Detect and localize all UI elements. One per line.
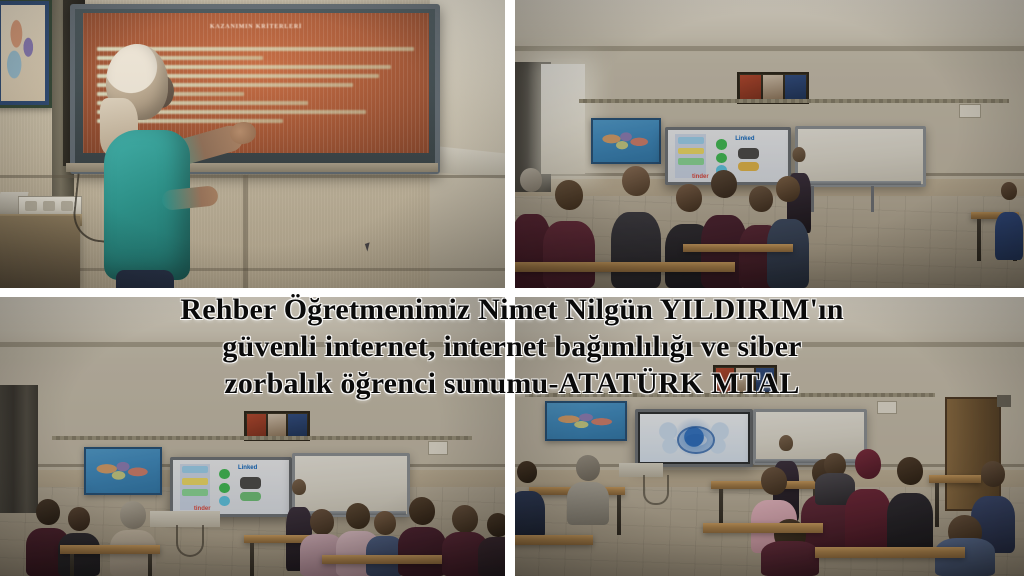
student: [398, 497, 446, 576]
student-head: [676, 184, 702, 212]
media-thumb: [240, 492, 261, 501]
student-body: [767, 219, 809, 288]
ceiling: [515, 0, 1024, 52]
ceiling: [0, 297, 505, 347]
frame-panel: [756, 368, 774, 392]
student-head: [981, 461, 1005, 487]
smart-board-screen: [640, 414, 748, 462]
wooden-desk: [322, 555, 442, 564]
whiteboard-stand: [811, 186, 814, 212]
wooden-desk: [515, 535, 593, 545]
ceiling-beam: [515, 342, 1024, 347]
student-body: [887, 493, 933, 553]
frame-portrait: [268, 414, 287, 438]
frame-panel: [785, 75, 806, 101]
wooden-desk: [683, 244, 793, 252]
student: [515, 461, 545, 539]
student-body: [478, 537, 505, 576]
wall-seam: [243, 175, 248, 288]
student-head: [374, 511, 396, 535]
photo-top-right: Linked tinder: [515, 0, 1024, 288]
student-head: [622, 166, 650, 196]
frame-portrait: [763, 75, 784, 101]
turkey-map-poster: [84, 447, 162, 495]
student: [767, 176, 809, 288]
wall-rail: [579, 99, 1009, 103]
student: [845, 449, 891, 553]
wooden-desk: [703, 523, 823, 533]
map-image: [1, 5, 45, 101]
whatsapp-icon: [219, 483, 229, 493]
wall-box: [959, 104, 981, 118]
student-body: [995, 212, 1023, 260]
student-body: [515, 491, 545, 539]
wooden-desk: [815, 547, 965, 558]
student-head: [711, 170, 737, 198]
media-thumb: [738, 148, 760, 159]
photo-top-right-content: Linked tinder: [515, 0, 1024, 288]
student-body: [761, 541, 819, 576]
power-cable: [643, 475, 669, 505]
teacher-figure: [98, 44, 226, 288]
student-head: [452, 505, 478, 533]
student-head: [520, 168, 542, 192]
student-head: [1001, 182, 1017, 200]
wooden-desk: [515, 262, 735, 272]
socket: [61, 201, 73, 211]
framed-map-poster: [0, 0, 52, 108]
slide-chip: [678, 148, 704, 155]
photo-top-left: KAZANIMIN KRİTERLERİ: [0, 0, 505, 288]
photo-bottom-left: Linked tinder: [0, 297, 505, 576]
frame-portrait: [736, 368, 754, 392]
student-body: [567, 482, 609, 525]
whatsapp-icon: [219, 469, 229, 479]
whatsapp-icon: [716, 139, 727, 149]
window: [541, 64, 585, 174]
wall-speaker: [997, 395, 1011, 407]
student-head: [776, 176, 800, 202]
photo-bottom-left-content: Linked tinder: [0, 297, 505, 576]
student-head: [409, 497, 435, 525]
socket: [43, 201, 55, 211]
wall-seam: [0, 175, 505, 178]
smart-board-screen: Linked tinder: [173, 460, 289, 514]
student: [935, 515, 995, 576]
student: [887, 457, 933, 553]
ceiling-beam: [515, 46, 1024, 51]
desk-leg: [617, 495, 621, 535]
wall-right-panel: [430, 0, 505, 288]
presenter-head: [292, 479, 306, 495]
student: [478, 513, 505, 576]
student-body: [543, 221, 595, 288]
linkedin-logo: Linked: [735, 136, 754, 142]
whiteboard: [795, 126, 926, 187]
power-cable: [176, 525, 204, 557]
photo-bottom-right-content: [515, 297, 1024, 576]
photo-bottom-right: [515, 297, 1024, 576]
teacher-lower-arm: [161, 185, 219, 211]
desk-leg: [148, 554, 152, 576]
student-head: [487, 513, 505, 537]
ceiling: [515, 297, 1024, 347]
student-head: [761, 467, 787, 495]
student-head: [855, 449, 881, 479]
student: [567, 455, 609, 525]
frame-panel: [740, 75, 761, 101]
student-head: [310, 509, 334, 535]
whatsapp-icon: [716, 153, 727, 163]
slide-chip: [678, 158, 704, 165]
teacher-legs: [116, 270, 174, 288]
ceiling-beam: [0, 342, 505, 347]
student-head: [897, 457, 923, 485]
photo-collage: KAZANIMIN KRİTERLERİ: [0, 0, 1024, 576]
wall-rail: [525, 393, 935, 397]
student-body: [845, 489, 891, 553]
horizontal-gutter: [0, 288, 1024, 297]
student-body: [611, 212, 661, 288]
linkedin-logo: Linked: [238, 465, 257, 471]
turkey-map-poster: [545, 401, 627, 441]
telegram-icon: [219, 496, 229, 506]
wooden-desk: [0, 216, 80, 288]
presenter-head: [779, 435, 793, 451]
slide-chip: [182, 489, 208, 496]
student-head: [36, 499, 60, 525]
socket: [25, 201, 37, 211]
smart-board: [635, 409, 753, 467]
media-thumb: [240, 477, 261, 489]
presenter-head: [793, 147, 806, 162]
frame-panel: [716, 368, 734, 392]
wall-rail: [52, 436, 472, 440]
desk-leg: [977, 219, 981, 261]
whiteboard-stand: [871, 186, 874, 212]
smart-board: Linked tinder: [170, 457, 292, 517]
slide-chip: [182, 478, 208, 485]
whiteboard-tray: [797, 181, 921, 185]
student: [995, 182, 1023, 260]
wooden-desk: [60, 545, 160, 554]
student: [58, 507, 100, 576]
student-head: [555, 180, 583, 210]
turkey-map-poster: [591, 118, 661, 164]
student-head: [120, 501, 146, 529]
frame-panel: [288, 414, 307, 438]
desk-leg: [70, 554, 74, 576]
wall-box: [877, 401, 897, 414]
slide-chip: [182, 466, 208, 473]
wall-box: [428, 441, 448, 455]
curtain: [0, 385, 38, 513]
student-head: [576, 455, 600, 481]
slide-chip: [678, 137, 704, 144]
student-body: [398, 527, 446, 576]
ataturk-portrait-frame: [713, 365, 777, 395]
photo-top-left-content: KAZANIMIN KRİTERLERİ: [0, 0, 505, 288]
student-body: [58, 533, 100, 576]
frame-panel: [247, 414, 266, 438]
desk-leg: [250, 543, 254, 576]
student-head: [517, 461, 537, 483]
student-head: [68, 507, 90, 531]
